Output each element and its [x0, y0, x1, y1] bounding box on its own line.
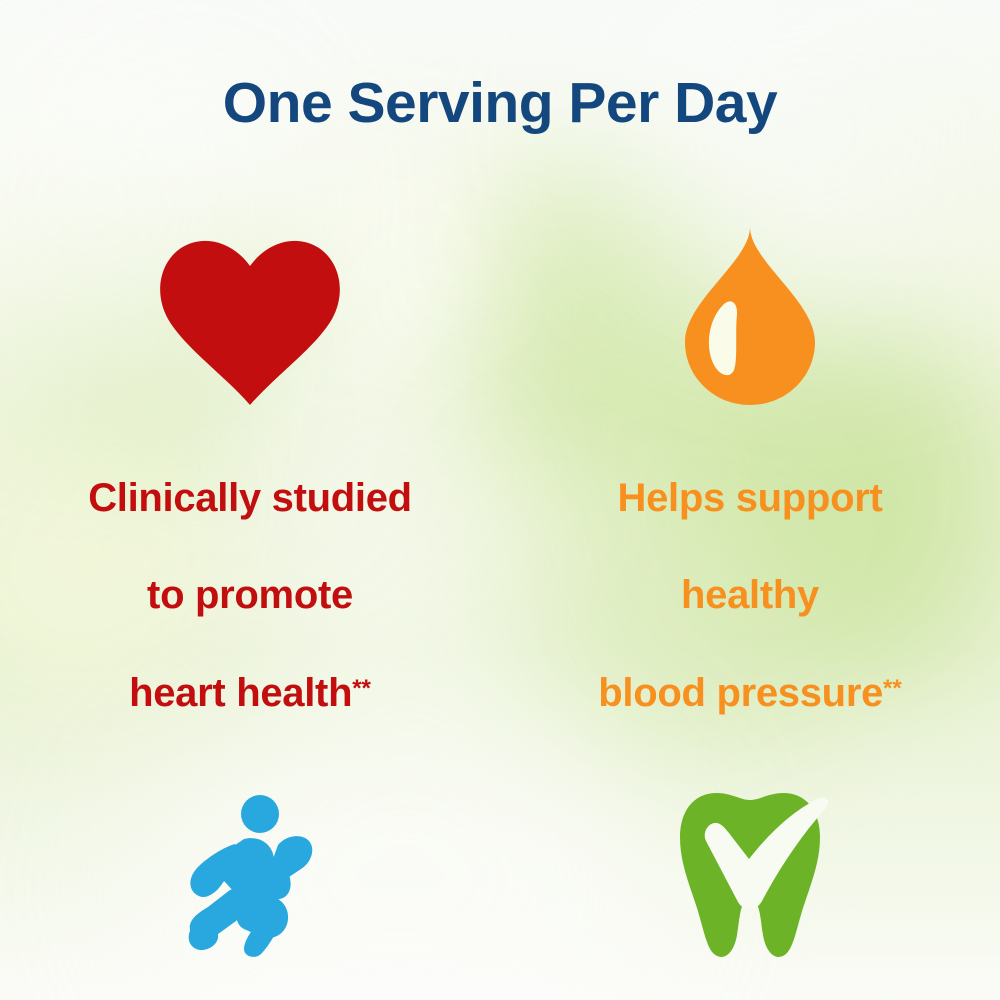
benefit-card-heart-health: Clinically studied to promote heart heal… — [0, 205, 500, 767]
poster-root: One Serving Per Day Clinically studied t… — [0, 0, 1000, 1000]
heart-icon — [158, 239, 342, 405]
tooth-icon-container — [676, 767, 824, 959]
caption-line: healthy — [598, 571, 901, 620]
benefit-caption-heart-health: Clinically studied to promote heart heal… — [88, 425, 412, 767]
caption-line: Clinically studied — [88, 474, 412, 523]
footnote-marker: ** — [883, 675, 902, 702]
caption-line: heart health** — [88, 669, 412, 718]
tooth-check-icon — [676, 789, 824, 959]
droplet-icon-container — [685, 205, 815, 405]
caption-line: blood pressure** — [598, 669, 901, 718]
benefit-caption-oral-health: Promotes oral and gum health** — [595, 977, 905, 1000]
benefit-card-healthy-aging: Supports healthy aging** — [0, 767, 500, 1000]
benefit-card-blood-pressure: Helps support healthy blood pressure** — [500, 205, 1000, 767]
runner-icon-container — [186, 767, 314, 959]
benefit-caption-healthy-aging: Supports healthy aging** — [114, 977, 387, 1000]
water-droplet-icon — [685, 227, 815, 405]
caption-text: blood pressure — [598, 671, 883, 715]
running-person-icon — [186, 795, 314, 959]
benefit-card-oral-health: Promotes oral and gum health** — [500, 767, 1000, 1000]
caption-text: heart health — [129, 671, 352, 715]
heart-icon-container — [158, 205, 342, 405]
page-title: One Serving Per Day — [0, 70, 1000, 136]
caption-line: Helps support — [598, 474, 901, 523]
footnote-marker: ** — [352, 675, 371, 702]
caption-line: to promote — [88, 571, 412, 620]
benefit-caption-blood-pressure: Helps support healthy blood pressure** — [598, 425, 901, 767]
benefits-grid: Clinically studied to promote heart heal… — [0, 205, 1000, 965]
